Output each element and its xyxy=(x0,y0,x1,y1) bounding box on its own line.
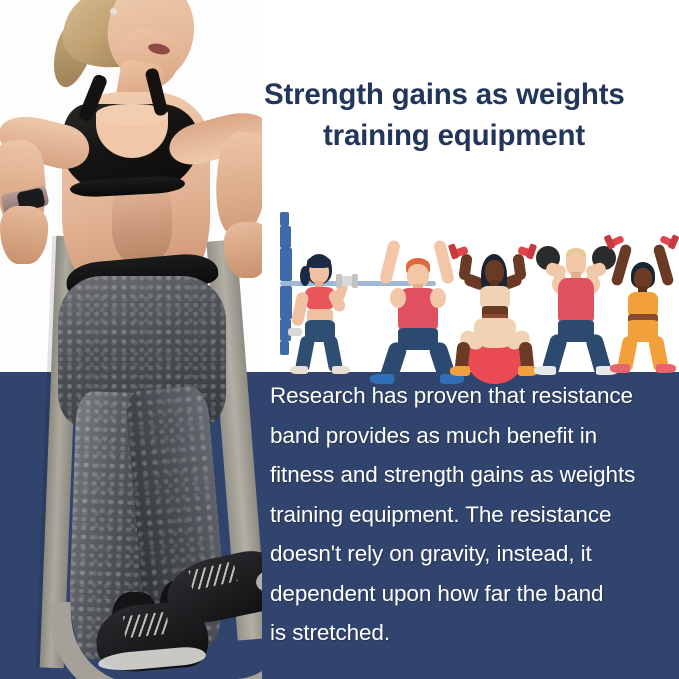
figure-woman-with-dumbbells xyxy=(286,254,358,372)
fig1-ponytail xyxy=(300,266,310,286)
fig4-top xyxy=(558,278,594,324)
fig5-dumbbell-right-plate xyxy=(667,234,679,250)
body-line-6: dependent upon how far the band xyxy=(270,574,674,614)
headline-line-1: Strength gains as weights xyxy=(264,78,625,111)
athlete-photo xyxy=(0,0,262,679)
figure-woman-on-exercise-ball xyxy=(448,242,540,372)
fig1-shoe-right xyxy=(332,366,350,374)
fig1-shoe-left xyxy=(290,366,308,374)
body-line-7: is stretched. xyxy=(270,613,674,653)
fig5-dumbbell-left-plate xyxy=(603,234,615,250)
body-line-4: training equipment. The resistance xyxy=(270,495,674,535)
earring xyxy=(110,8,117,15)
promo-graphic: Strength gains as weights training equip… xyxy=(0,0,679,679)
headline-line-2: training equipment xyxy=(264,115,674,156)
fig5-arm-left xyxy=(610,243,632,286)
body-line-5: doesn't rely on gravity, instead, it xyxy=(270,534,674,574)
hand-right xyxy=(224,222,262,278)
fig2-arm-left xyxy=(379,239,401,285)
body-line-1: Research has proven that resistance xyxy=(270,376,674,416)
fig1-dumbbell-low xyxy=(288,328,302,336)
hand-left xyxy=(0,206,48,264)
body-paragraph: Research has proven that resistance band… xyxy=(270,376,674,653)
fig2-shoulder-right xyxy=(430,288,446,308)
page-title: Strength gains as weights training equip… xyxy=(264,74,674,156)
body-line-3: fitness and strength gains as weights xyxy=(270,455,674,495)
fig2-shoulder-left xyxy=(390,288,406,308)
fig5-shoe-right xyxy=(656,364,676,373)
body-line-2: band provides as much benefit in xyxy=(270,416,674,456)
fig1-hair-front xyxy=(307,256,331,268)
figure-woman-arms-raised xyxy=(606,236,679,372)
exercise-figures-illustration xyxy=(280,212,679,372)
fig3-dumbbell-left-plate xyxy=(448,243,459,259)
barbell-plate-mid-left xyxy=(280,226,291,248)
fig1-dumbbell-plate-a xyxy=(336,274,342,288)
fig3-shoe-left xyxy=(450,366,470,376)
fig1-dumbbell-plate-b xyxy=(352,274,358,288)
fig4-shoe-left xyxy=(534,366,556,375)
fig5-shoe-left xyxy=(610,364,630,373)
resistance-band-loop xyxy=(49,589,262,679)
barbell-plate-outer-left xyxy=(280,212,289,226)
fig5-arm-right xyxy=(652,243,674,286)
